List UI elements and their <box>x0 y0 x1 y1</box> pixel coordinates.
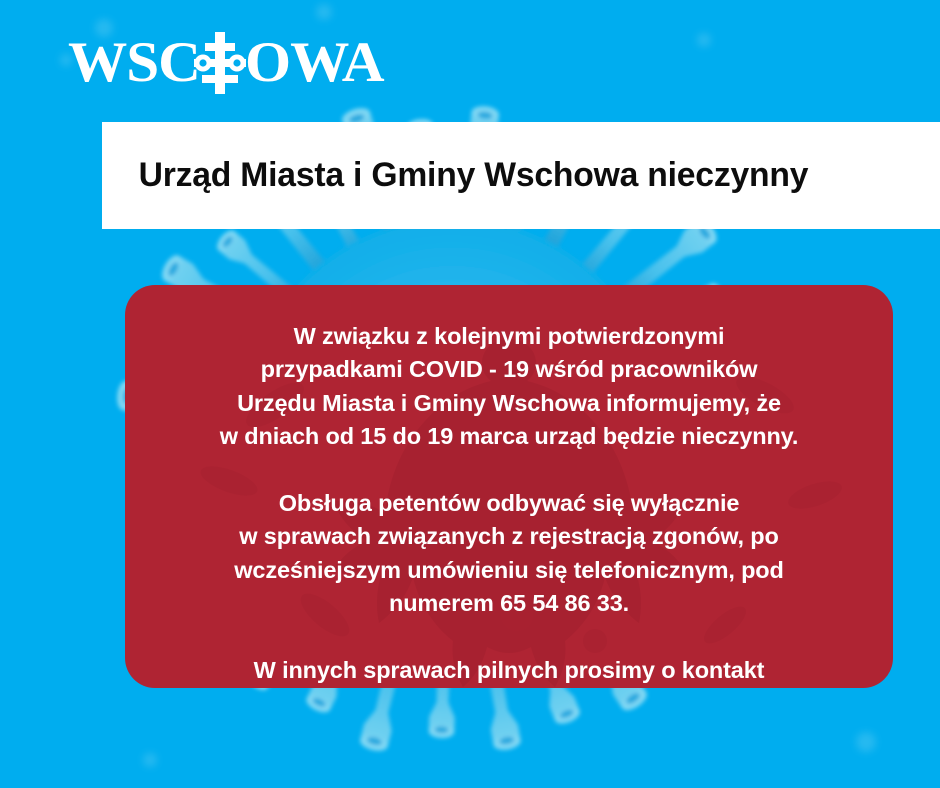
notice-panel: W związku z kolejnymi potwierdzonymi prz… <box>125 285 893 688</box>
notice-paragraph-1: W związku z kolejnymi potwierdzonymi prz… <box>151 320 867 454</box>
notice-paragraph-3: W innych sprawach pilnych prosimy o kont… <box>151 654 867 689</box>
wschowa-logo: WSC OWA <box>68 33 378 91</box>
notice-paragraph-2: Obsługa petentów odbywać się wyłącznie w… <box>151 487 867 621</box>
logo-text-before: WSC <box>68 34 200 91</box>
poster-announcement: WSC OWA Urząd Miasta i Gminy Wschowa nie… <box>0 0 940 788</box>
title-banner: Urząd Miasta i Gminy Wschowa nieczynny <box>102 122 940 229</box>
logo-text-after: OWA <box>245 34 384 91</box>
notice-text-block: W związku z kolejnymi potwierdzonymi prz… <box>125 285 893 688</box>
wschowa-coat-of-arms-double-cross-icon <box>194 30 246 96</box>
page-title: Urząd Miasta i Gminy Wschowa nieczynny <box>102 156 808 195</box>
